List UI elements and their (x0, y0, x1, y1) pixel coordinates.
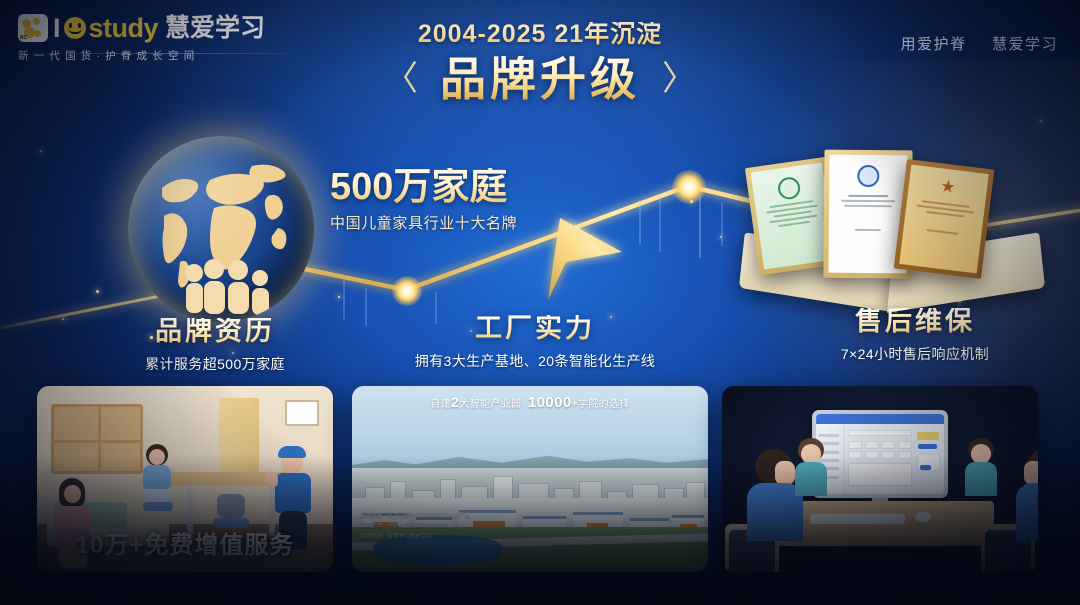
certificate-seal-icon (777, 176, 802, 201)
chevron-right-icon: 〉 (662, 62, 696, 96)
page-title-block: 2004-2025 21年沉淀 〈 品牌升级 〉 (280, 22, 800, 102)
logo-wordmark-study: study (89, 15, 159, 42)
hero-stat-value: 500万家庭 (330, 168, 517, 206)
factory-detail-lines: 品牌质量：以为让孩子们坐得更专注的好产品 品牌护脊：守护儿童坐姿的护脊理念 品牌… (360, 511, 470, 542)
logo-letter-i: I (53, 15, 60, 42)
chart-node-right (672, 170, 706, 204)
poster-canvas: ★ RC I study 慧爱学习 新一代国货·护脊成长空间 用爱护脊 慧爱学习 (0, 0, 1080, 605)
header-slogan-right: 慧爱学习 (992, 36, 1058, 53)
certificate-seal-icon (857, 165, 879, 187)
logo-mark-icon: RC (18, 14, 48, 42)
photo-factory-park: 自建2大智能产业园 10000+学院的选择 品牌质量：以为让孩子们坐得更专注的好… (352, 386, 708, 572)
pillar-title: 品牌资历 (70, 318, 360, 345)
chart-node-left (392, 276, 422, 306)
factory-headline: 自建2大智能产业园 10000+学院的选择 (352, 394, 708, 411)
factory-headline-num1: 2 (451, 394, 459, 410)
keyboard (810, 514, 905, 523)
factory-line-1: 品牌质量：以为让孩子们坐得更专注的好产品 (360, 511, 470, 521)
pillar-title: 售后维保 (775, 308, 1055, 335)
factory-headline-post: 学院的选择 (578, 399, 630, 410)
factory-headline-mid: 大智能产业园 (459, 399, 521, 410)
logo-tagline: 新一代国货·护脊成长空间 (18, 48, 308, 63)
wall-frame-icon (285, 400, 319, 426)
logo-wordmark-chinese: 慧爱学习 (165, 16, 265, 41)
photo-office-team (722, 386, 1038, 572)
star-icon: ★ (939, 176, 957, 198)
photo-home-service: 10万+免费增值服务 (37, 386, 333, 572)
globe-graphic (128, 136, 314, 322)
hero-stat-caption: 中国儿童家具行业十大名牌 (330, 212, 517, 233)
certificate-gold: ★ (894, 159, 995, 279)
title-subtitle: 2004-2025 21年沉淀 (280, 22, 800, 47)
pillar-factory-strength: 工厂实力 拥有3大生产基地、20条智能化生产线 (385, 315, 685, 371)
pillar-brand-history: 品牌资历 累计服务超500万家庭 (70, 318, 360, 374)
factory-line-2: 品牌护脊：守护儿童坐姿的护脊理念 (360, 521, 470, 531)
photo-caption-service: 10万+免费增值服务 (37, 525, 333, 560)
monitor-screen (816, 414, 944, 493)
pillar-desc: 拥有3大生产基地、20条智能化生产线 (385, 351, 685, 371)
pillar-after-sales: 售后维保 7×24小时售后响应机制 (775, 308, 1055, 364)
pillar-desc: 累计服务超500万家庭 (70, 354, 360, 374)
factory-headline-num2: 10000 (528, 394, 572, 411)
header-slogan: 用爱护脊 慧爱学习 (901, 33, 1058, 54)
pillar-desc: 7×24小时售后响应机制 (775, 344, 1055, 364)
brand-logo[interactable]: RC I study 慧爱学习 新一代国货·护脊成长空间 (18, 14, 308, 63)
logo-divider (18, 53, 306, 54)
office-illustration (722, 386, 1038, 572)
bookshelf (51, 404, 143, 474)
smiley-face-icon (64, 17, 86, 39)
header-slogan-left: 用爱护脊 (901, 36, 967, 53)
factory-line-3: 品牌科技：智慧学习成长空间 (360, 532, 470, 542)
mouse-device (915, 512, 931, 521)
certificates-book: ★ (742, 150, 1042, 300)
page-title: 品牌升级 (440, 56, 640, 102)
factory-headline-pre: 自建 (430, 399, 451, 410)
screen-toolbar (816, 414, 944, 424)
desktop-monitor (812, 410, 948, 497)
hero-stat: 500万家庭 中国儿童家具行业十大名牌 (330, 168, 517, 233)
chevron-left-icon: 〈 (384, 62, 418, 96)
pillar-title: 工厂实力 (385, 315, 685, 342)
